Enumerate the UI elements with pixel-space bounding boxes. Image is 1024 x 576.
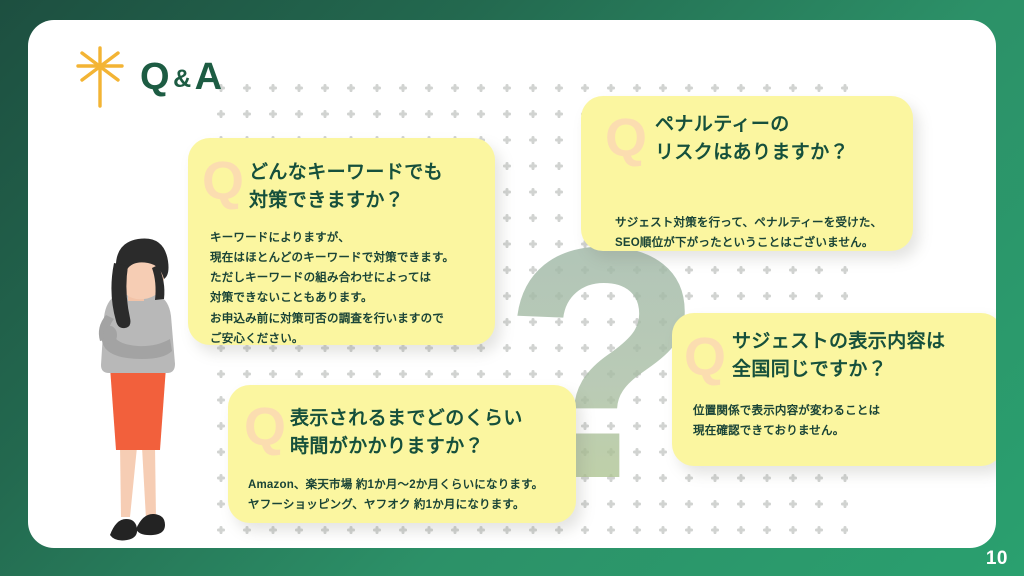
page-title-q: Q — [140, 56, 170, 98]
qa-card-heading: ペナルティーの リスクはありますか？ — [655, 111, 849, 166]
page-title: Q&A — [140, 58, 223, 96]
page-title-a: A — [195, 56, 223, 98]
page-number: 10 — [986, 548, 1008, 570]
qa-card-body: サジェスト対策を行って、ペナルティーを受けた、 SEO順位が下がったということは… — [615, 213, 882, 251]
qa-card-heading: 表示されるまでどのくらい 時間がかかりますか？ — [290, 405, 540, 460]
star-burst-icon — [72, 44, 128, 110]
page-title-amp: & — [170, 65, 195, 93]
qa-card-heading: どんなキーワードでも 対策できますか？ — [249, 159, 443, 214]
slide-page-surface: ? Q&A — [28, 20, 996, 548]
page-header: Q&A — [72, 44, 223, 110]
qa-card-q-letter: Q — [605, 111, 647, 165]
qa-card-nationwide[interactable]: Q サジェストの表示内容は 全国同じですか？ 位置関係で表示内容が変わることは … — [672, 313, 996, 466]
slide-canvas: ? Q&A — [0, 0, 1024, 576]
qa-card-penalty[interactable]: Q ペナルティーの リスクはありますか？ サジェスト対策を行って、ペナルティーを… — [581, 96, 913, 251]
qa-card-body: キーワードによりますが、 現在はほとんどのキーワードで対策できます。 ただしキー… — [210, 228, 454, 345]
qa-card-q-letter: Q — [244, 400, 286, 454]
qa-card-q-letter: Q — [202, 154, 244, 208]
qa-card-body: Amazon、楽天市場 約1か月～2か月くらいになります。 ヤフーショッピング、… — [248, 475, 543, 515]
qa-card-heading: サジェストの表示内容は 全国同じですか？ — [732, 328, 945, 383]
qa-card-q-letter: Q — [684, 330, 726, 384]
qa-card-duration[interactable]: Q 表示されるまでどのくらい 時間がかかりますか？ Amazon、楽天市場 約1… — [228, 385, 576, 523]
qa-card-body: 位置関係で表示内容が変わることは 現在確認できておりません。 — [693, 401, 880, 441]
qa-card-keyword[interactable]: Q どんなキーワードでも 対策できますか？ キーワードによりますが、 現在はほと… — [188, 138, 495, 345]
